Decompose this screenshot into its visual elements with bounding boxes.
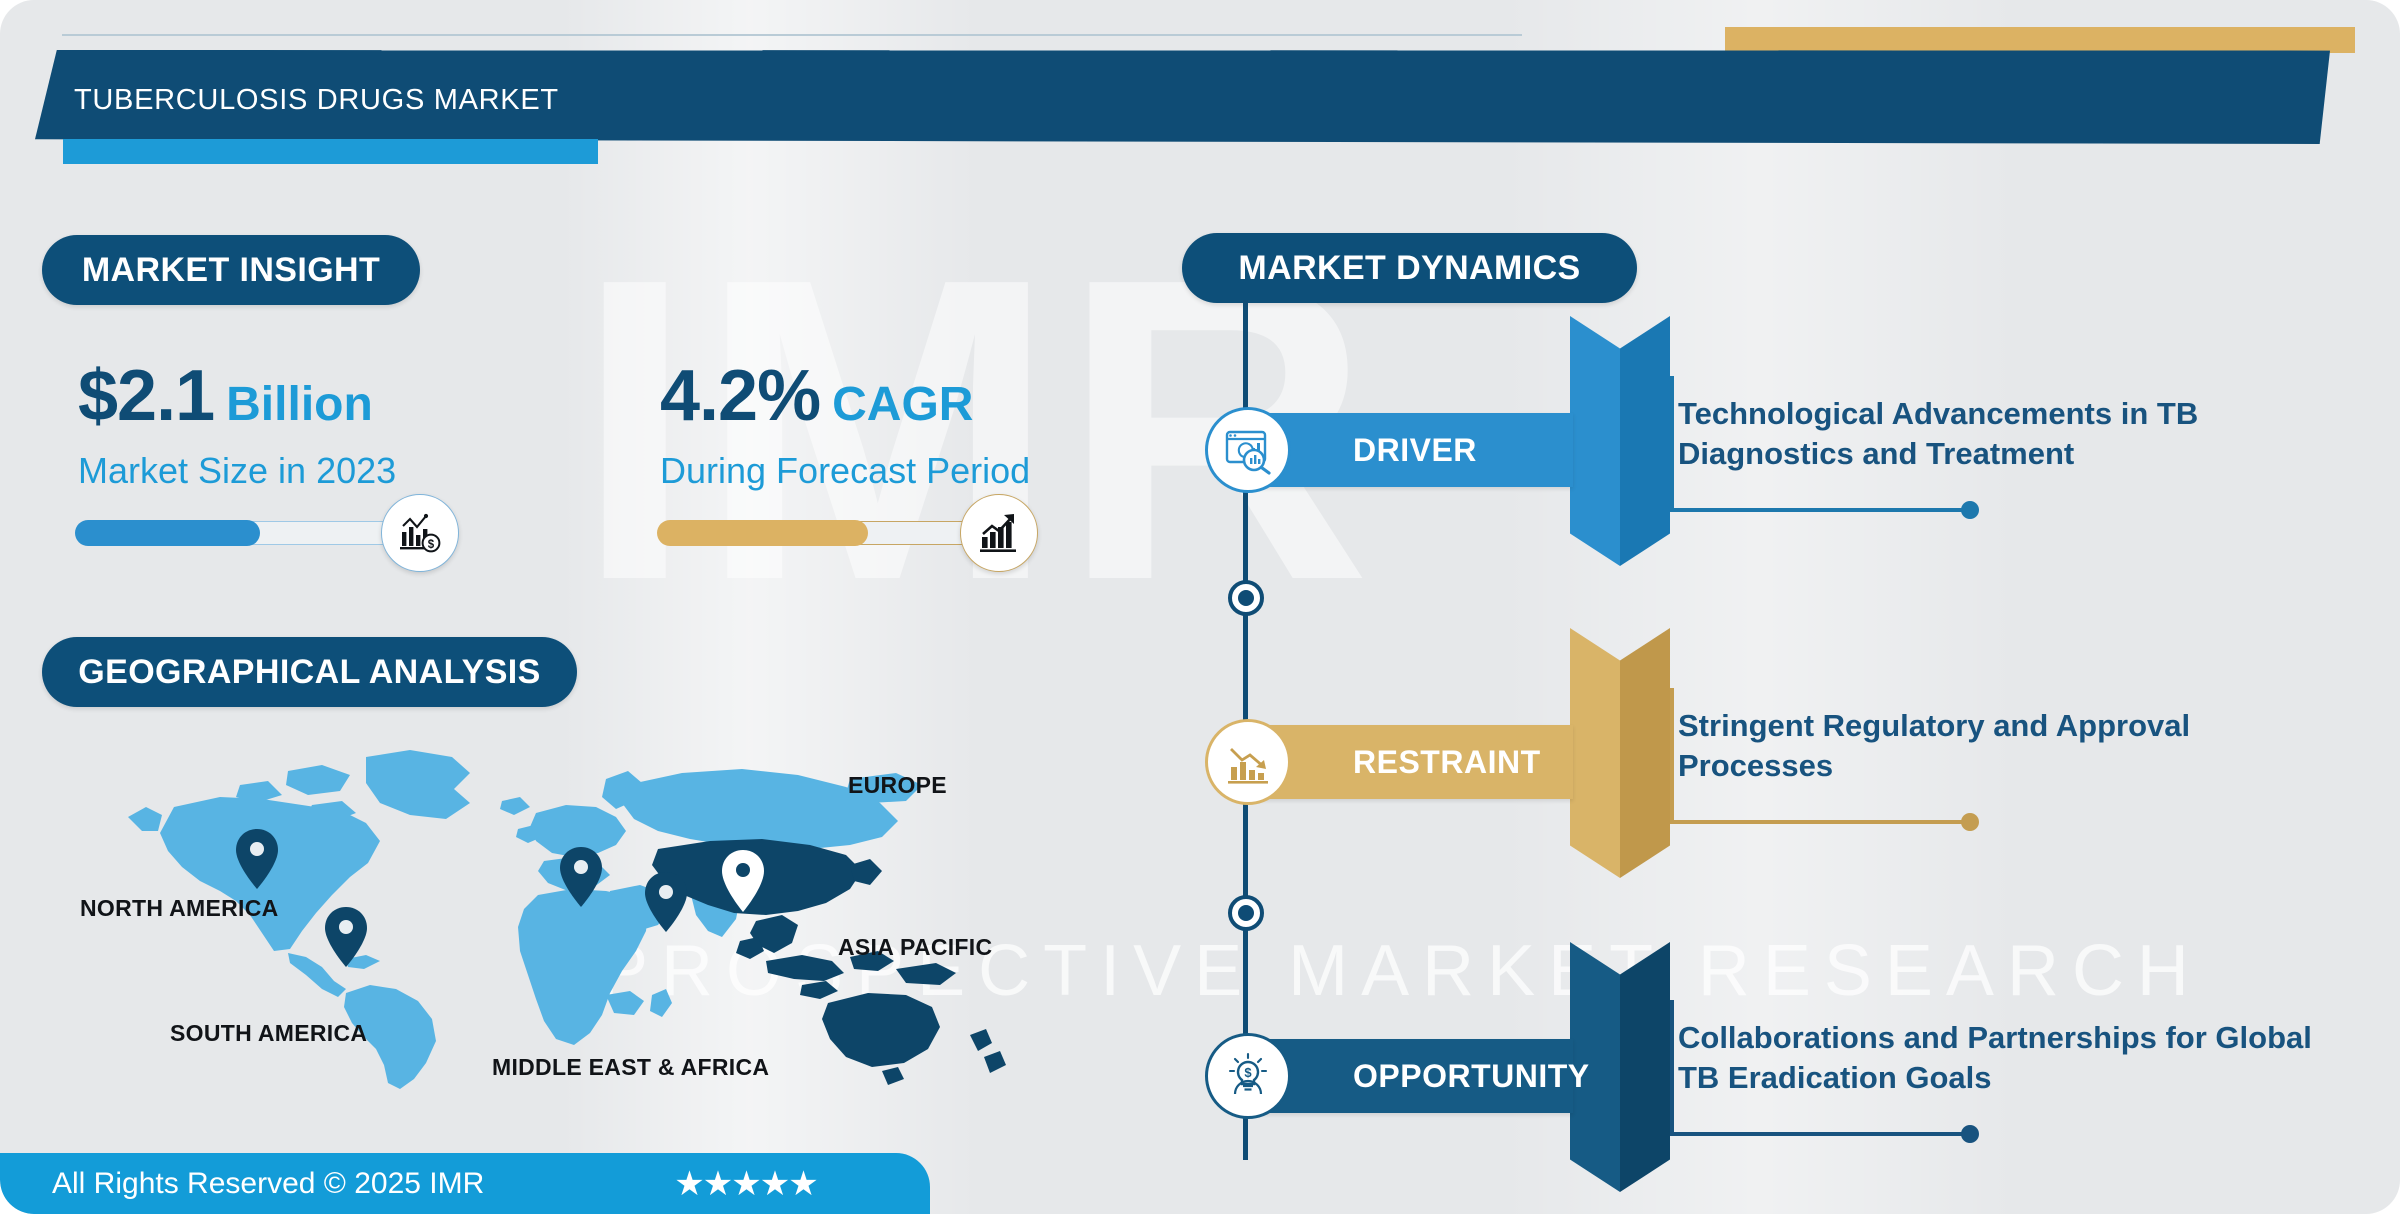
dashboard-analytics-search-icon xyxy=(1205,407,1291,493)
map-label-south-america: SOUTH AMERICA xyxy=(170,1020,367,1047)
driver-ribbon xyxy=(1570,316,1670,566)
cagr-caption: During Forecast Period xyxy=(660,450,1030,492)
stat-cagr: 4.2%CAGR During Forecast Period xyxy=(660,360,1030,492)
footer-rating-stars: ★★★★★ xyxy=(674,1164,816,1204)
restraint-bar: RESTRAINT xyxy=(1243,725,1573,799)
driver-description: Technological Advancements in TB Diagnos… xyxy=(1678,394,2318,473)
restraint-description: Stringent Regulatory and Approval Proces… xyxy=(1678,706,2318,785)
svg-text:$: $ xyxy=(428,539,435,551)
opportunity-label: OPPORTUNITY xyxy=(1353,1058,1590,1095)
svg-text:$: $ xyxy=(1244,1065,1252,1080)
opportunity-description: Collaborations and Partnerships for Glob… xyxy=(1678,1018,2318,1097)
driver-bar: DRIVER xyxy=(1243,413,1573,487)
header-underline-accent xyxy=(63,139,598,164)
header-hairline xyxy=(62,34,1522,36)
bar-chart-dollar-icon: $ xyxy=(381,494,459,572)
footer-copyright: All Rights Reserved © 2025 IMR xyxy=(52,1167,484,1201)
opportunity-connector-tick xyxy=(1670,1000,1674,1132)
lightbulb-dollar-icon: $ xyxy=(1205,1033,1291,1119)
map-highlight-asia-pacific xyxy=(652,839,1006,1085)
market-insight-heading: MARKET INSIGHT xyxy=(42,235,420,305)
infographic-canvas: IMR PROSPECTIVE MARKET RESEARCH TUBERCUL… xyxy=(0,0,2400,1214)
cagr-progress-fill xyxy=(657,520,868,546)
opportunity-rule xyxy=(1670,1132,1970,1136)
driver-rule xyxy=(1670,508,1970,512)
market-size-progress-fill xyxy=(75,520,260,546)
geographical-analysis-heading: GEOGRAPHICAL ANALYSIS xyxy=(42,637,577,707)
timeline-node-1 xyxy=(1228,580,1264,616)
opportunity-bar: OPPORTUNITY xyxy=(1243,1039,1573,1113)
map-label-middle-east-africa: MIDDLE EAST & AFRICA xyxy=(492,1054,769,1081)
header-gold-accent xyxy=(1725,27,2355,53)
growth-arrow-chart-icon xyxy=(960,494,1038,572)
map-label-north-america: NORTH AMERICA xyxy=(80,895,279,922)
restraint-rule xyxy=(1670,820,1970,824)
market-size-caption: Market Size in 2023 xyxy=(78,450,396,492)
driver-connector-tick xyxy=(1670,376,1674,508)
market-dynamics-heading: MARKET DYNAMICS xyxy=(1182,233,1637,303)
restraint-label: RESTRAINT xyxy=(1353,744,1541,781)
page-title: TUBERCULOSIS DRUGS MARKET xyxy=(74,84,559,117)
declining-bar-chart-icon xyxy=(1205,719,1291,805)
map-label-asia-pacific: ASIA PACIFIC xyxy=(838,934,992,961)
footer-bar: All Rights Reserved © 2025 IMR ★★★★★ xyxy=(0,1153,930,1214)
market-size-value: $2.1 xyxy=(78,356,214,436)
stat-market-size: $2.1Billion Market Size in 2023 xyxy=(78,360,396,492)
restraint-connector-tick xyxy=(1670,688,1674,820)
cagr-unit: CAGR xyxy=(832,378,973,431)
market-size-unit: Billion xyxy=(226,378,373,431)
restraint-ribbon xyxy=(1570,628,1670,878)
map-label-europe: EUROPE xyxy=(848,772,947,799)
driver-label: DRIVER xyxy=(1353,432,1477,469)
cagr-value: 4.2% xyxy=(660,356,820,436)
timeline-node-2 xyxy=(1228,895,1264,931)
